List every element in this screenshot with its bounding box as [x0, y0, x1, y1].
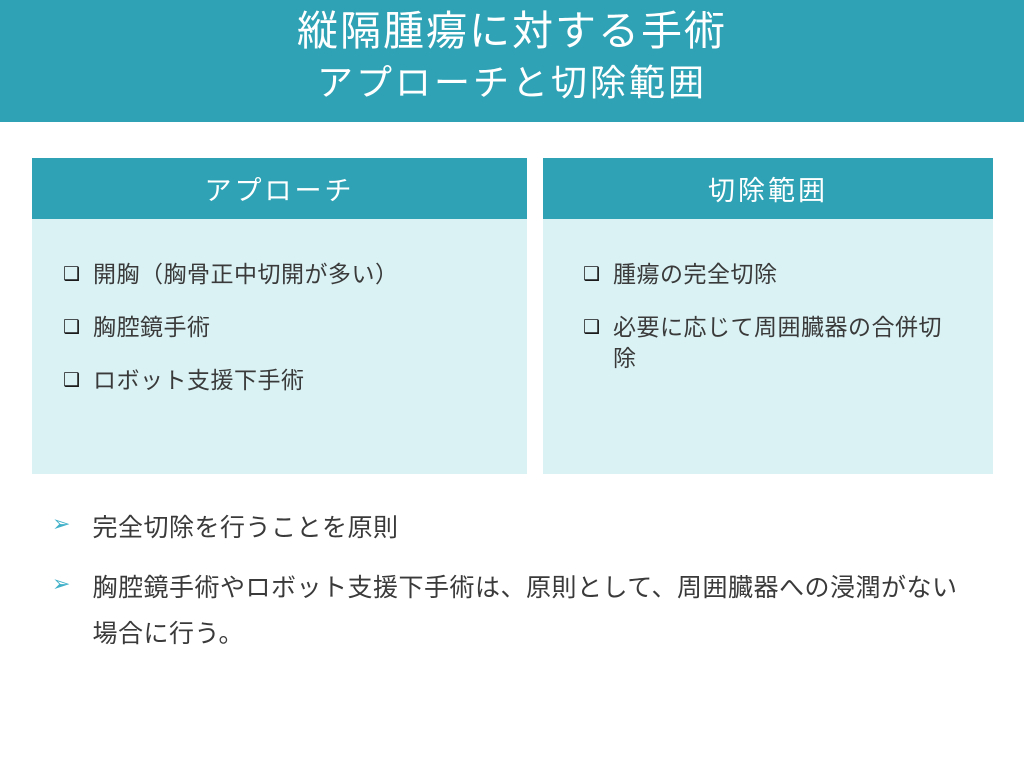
card-approach-item-2: ロボット支援下手術 — [93, 365, 305, 396]
square-bullet-icon: ❑ — [583, 312, 600, 342]
list-item: ❑ ロボット支援下手術 — [32, 365, 527, 396]
list-item: ❑ 胸腔鏡手術 — [32, 312, 527, 343]
arrow-bullet-icon: ➢ — [52, 505, 70, 545]
arrow-bullet-icon: ➢ — [52, 565, 70, 605]
card-approach-item-1: 胸腔鏡手術 — [93, 312, 211, 343]
card-resection-extent-list: ❑ 腫瘍の完全切除 ❑ 必要に応じて周囲臓器の合併切除 — [543, 259, 993, 374]
note-text-1: 胸腔鏡手術やロボット支援下手術は、原則として、周囲臓器への浸潤がない場合に行う。 — [92, 565, 972, 657]
card-resection-item-0: 腫瘍の完全切除 — [613, 259, 778, 290]
note-text-0: 完全切除を行うことを原則 — [92, 505, 398, 551]
card-resection-item-1: 必要に応じて周囲臓器の合併切除 — [613, 312, 953, 374]
card-resection-extent-header: 切除範囲 — [543, 158, 993, 219]
card-approach-item-0: 開胸（胸骨正中切開が多い） — [93, 259, 399, 290]
list-item: ➢ 完全切除を行うことを原則 — [52, 505, 992, 551]
cards-row: アプローチ ❑ 開胸（胸骨正中切開が多い） ❑ 胸腔鏡手術 ❑ ロボット支援下手… — [32, 158, 993, 474]
notes-list: ➢ 完全切除を行うことを原則 ➢ 胸腔鏡手術やロボット支援下手術は、原則として、… — [52, 505, 992, 671]
card-approach-list: ❑ 開胸（胸骨正中切開が多い） ❑ 胸腔鏡手術 ❑ ロボット支援下手術 — [32, 259, 527, 396]
card-resection-extent: 切除範囲 ❑ 腫瘍の完全切除 ❑ 必要に応じて周囲臓器の合併切除 — [543, 158, 993, 474]
card-approach-header: アプローチ — [32, 158, 527, 219]
slide-title-primary: 縦隔腫瘍に対する手術 — [297, 4, 727, 58]
square-bullet-icon: ❑ — [63, 312, 80, 342]
square-bullet-icon: ❑ — [583, 259, 600, 289]
list-item: ➢ 胸腔鏡手術やロボット支援下手術は、原則として、周囲臓器への浸潤がない場合に行… — [52, 565, 992, 657]
slide-title-banner: 縦隔腫瘍に対する手術 アプローチと切除範囲 — [0, 0, 1024, 122]
square-bullet-icon: ❑ — [63, 365, 80, 395]
list-item: ❑ 開胸（胸骨正中切開が多い） — [32, 259, 527, 290]
list-item: ❑ 必要に応じて周囲臓器の合併切除 — [543, 312, 993, 374]
slide-title-secondary: アプローチと切除範囲 — [317, 58, 707, 108]
list-item: ❑ 腫瘍の完全切除 — [543, 259, 993, 290]
card-approach: アプローチ ❑ 開胸（胸骨正中切開が多い） ❑ 胸腔鏡手術 ❑ ロボット支援下手… — [32, 158, 527, 474]
card-resection-extent-body: ❑ 腫瘍の完全切除 ❑ 必要に応じて周囲臓器の合併切除 — [543, 219, 993, 474]
square-bullet-icon: ❑ — [63, 259, 80, 289]
card-approach-body: ❑ 開胸（胸骨正中切開が多い） ❑ 胸腔鏡手術 ❑ ロボット支援下手術 — [32, 219, 527, 474]
